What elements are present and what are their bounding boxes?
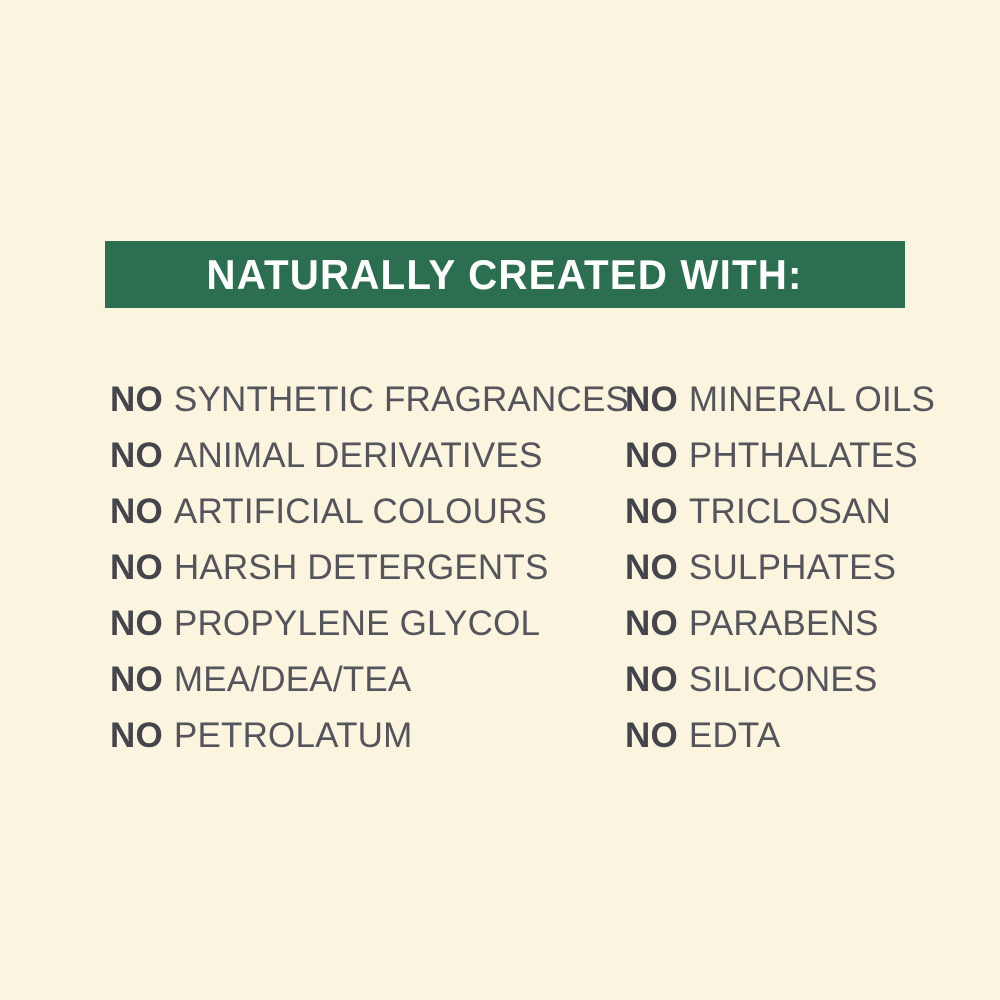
list-item: NO PROPYLENE GLYCOL <box>110 596 625 652</box>
list-item-prefix: NO <box>625 718 678 754</box>
list-item-prefix: NO <box>110 606 163 642</box>
list-item: NO PHTHALATES <box>625 428 910 484</box>
banner-title: NATURALLY CREATED WITH: <box>207 254 803 296</box>
exclusion-list: NO SYNTHETIC FRAGRANCES NO ANIMAL DERIVA… <box>110 372 910 764</box>
list-item-label: TRICLOSAN <box>689 494 891 530</box>
list-item-label: MINERAL OILS <box>689 382 935 418</box>
list-item-label: ANIMAL DERIVATIVES <box>174 438 543 474</box>
list-item: NO EDTA <box>625 708 910 764</box>
list-item-prefix: NO <box>625 494 678 530</box>
list-item: NO MINERAL OILS <box>625 372 910 428</box>
list-item-label: PETROLATUM <box>174 718 413 754</box>
exclusion-list-left-column: NO SYNTHETIC FRAGRANCES NO ANIMAL DERIVA… <box>110 372 625 764</box>
list-item-label: PARABENS <box>689 606 879 642</box>
list-item: NO MEA/DEA/TEA <box>110 652 625 708</box>
list-item-prefix: NO <box>110 718 163 754</box>
list-item: NO SULPHATES <box>625 540 910 596</box>
exclusion-list-right-column: NO MINERAL OILS NO PHTHALATES NO TRICLOS… <box>625 372 910 764</box>
list-item-prefix: NO <box>625 606 678 642</box>
list-item-prefix: NO <box>110 438 163 474</box>
list-item-prefix: NO <box>625 438 678 474</box>
list-item-label: PHTHALATES <box>689 438 918 474</box>
list-item-prefix: NO <box>625 662 678 698</box>
list-item-prefix: NO <box>110 662 163 698</box>
list-item: NO SYNTHETIC FRAGRANCES <box>110 372 625 428</box>
list-item: NO PETROLATUM <box>110 708 625 764</box>
list-item-label: SILICONES <box>689 662 878 698</box>
list-item-label: MEA/DEA/TEA <box>174 662 412 698</box>
list-item-label: ARTIFICIAL COLOURS <box>174 494 547 530</box>
list-item-label: SYNTHETIC FRAGRANCES <box>174 382 629 418</box>
list-item-label: PROPYLENE GLYCOL <box>174 606 540 642</box>
list-item-prefix: NO <box>110 494 163 530</box>
list-item: NO PARABENS <box>625 596 910 652</box>
list-item-label: SULPHATES <box>689 550 896 586</box>
list-item-label: HARSH DETERGENTS <box>174 550 549 586</box>
list-item-label: EDTA <box>689 718 781 754</box>
list-item-prefix: NO <box>110 550 163 586</box>
list-item: NO HARSH DETERGENTS <box>110 540 625 596</box>
list-item: NO SILICONES <box>625 652 910 708</box>
infographic-page: NATURALLY CREATED WITH: NO SYNTHETIC FRA… <box>0 0 1000 1000</box>
list-item-prefix: NO <box>110 382 163 418</box>
list-item: NO TRICLOSAN <box>625 484 910 540</box>
banner-naturally-created-with: NATURALLY CREATED WITH: <box>105 241 905 308</box>
list-item: NO ARTIFICIAL COLOURS <box>110 484 625 540</box>
list-item-prefix: NO <box>625 550 678 586</box>
list-item-prefix: NO <box>625 382 678 418</box>
list-item: NO ANIMAL DERIVATIVES <box>110 428 625 484</box>
